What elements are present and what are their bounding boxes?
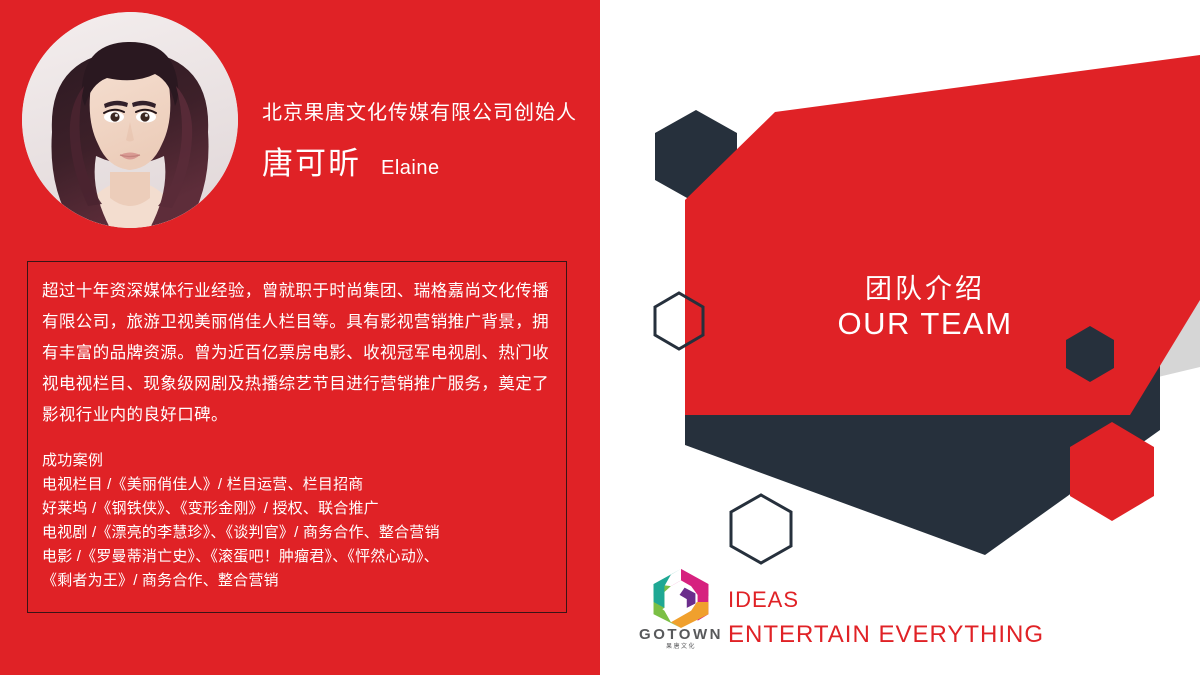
logo-subword: 果唐文化 [632,643,730,652]
tagline-line-2: ENTERTAIN EVERYTHING [728,617,1044,653]
portrait-photo-icon [22,12,238,228]
list-item: 电视栏目 /《美丽俏佳人》/ 栏目运营、栏目招商 [42,473,554,497]
person-name-row: 唐可昕 Elaine [262,138,440,183]
person-role: 北京果唐文化传媒有限公司创始人 [262,96,577,125]
avatar [22,12,238,228]
brand-logo: GOTOWN 果唐文化 [632,566,730,652]
logo-wordmark: GOTOWN [632,626,730,643]
cases-title: 成功案例 [42,449,554,473]
list-item: 《剩者为王》/ 商务合作、整合营销 [42,569,554,593]
left-red-panel: 北京果唐文化传媒有限公司创始人 唐可昕 Elaine 超过十年资深媒体行业经验，… [0,0,600,675]
red-large-slab [685,55,1200,415]
list-item: 好莱坞 /《钢铁侠》、《变形金刚》/ 授权、联合推广 [42,497,554,521]
right-panel: 团队介绍 OUR TEAM GOTOWN 果唐文化 [600,0,1200,675]
bio-paragraph: 超过十年资深媒体行业经验，曾就职于时尚集团、瑞格嘉尚文化传播有限公司，旅游卫视美… [42,276,554,431]
tagline-line-1: IDEAS [728,583,1044,617]
person-name-cn: 唐可昕 [262,138,361,183]
cases-list: 电视栏目 /《美丽俏佳人》/ 栏目运营、栏目招商 好莱坞 /《钢铁侠》、《变形金… [42,473,554,593]
person-name-en: Elaine [381,157,440,180]
list-item: 电视剧 /《漂亮的李慧珍》、《谈判官》/ 商务合作、整合营销 [42,521,554,545]
tagline-block: IDEAS ENTERTAIN EVERYTHING [728,583,1044,653]
outline-hex-bottom [731,495,791,563]
bio-box: 超过十年资深媒体行业经验，曾就职于时尚集团、瑞格嘉尚文化传播有限公司，旅游卫视美… [27,261,567,613]
slide-canvas: 北京果唐文化传媒有限公司创始人 唐可昕 Elaine 超过十年资深媒体行业经验，… [0,0,1200,675]
gotown-logo-icon [642,566,720,628]
list-item: 电影 /《罗曼蒂消亡史》、《滚蛋吧！肿瘤君》、《怦然心动》、 [42,545,554,569]
